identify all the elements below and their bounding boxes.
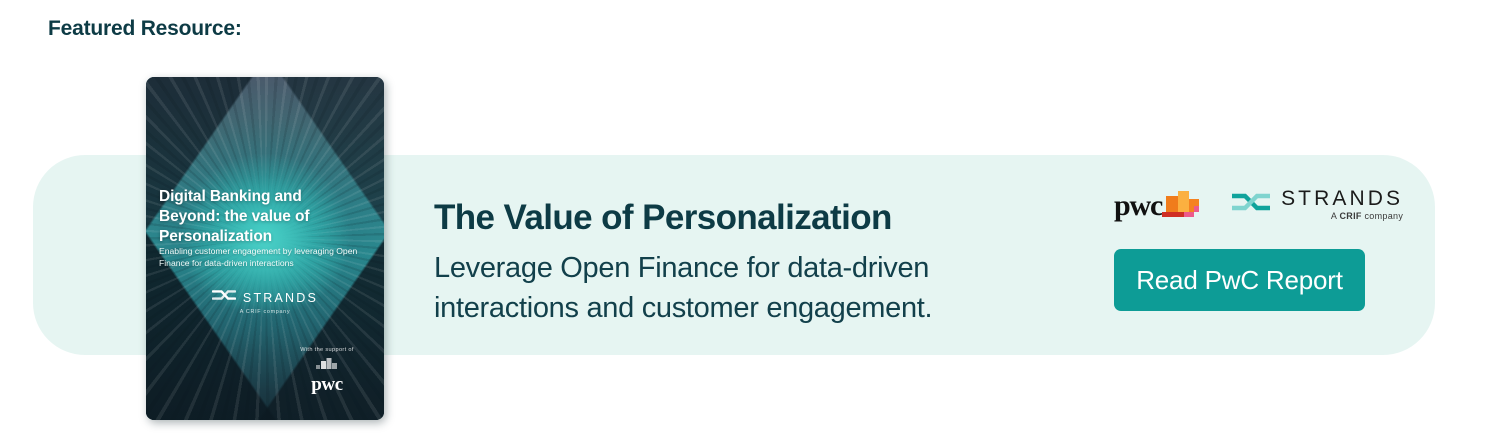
read-pwc-report-button[interactable]: Read PwC Report (1114, 249, 1365, 311)
cover-support-label: With the support of (284, 347, 370, 353)
strands-tagline: A CRIF company (1331, 211, 1403, 221)
strands-tagline-suffix: company (1365, 211, 1404, 221)
cover-title: Digital Banking and Beyond: the value of… (159, 187, 349, 246)
strands-logo: STRANDS A CRIF company (1230, 188, 1403, 221)
pwc-blocks-icon (1158, 189, 1204, 219)
cover-strands-tagline: A CRIF company (146, 309, 384, 315)
promo-subtitle: Leverage Open Finance for data-driven in… (434, 248, 1074, 328)
page-title: Featured Resource: (48, 17, 242, 41)
strands-wordmark: STRANDS (1281, 188, 1403, 210)
cover-support-block: With the support of pwc (284, 347, 370, 394)
strands-x-icon (1230, 191, 1272, 218)
crif-wordmark: CRIF (1339, 211, 1361, 221)
cover-subtitle: Enabling customer engagement by leveragi… (159, 245, 364, 270)
promo-title: The Value of Personalization (434, 198, 892, 238)
partner-logo-row: pwc STRANDS A CRIF company (1114, 188, 1403, 221)
strands-tagline-prefix: A (1331, 211, 1337, 221)
cover-strands-logo: STRANDS A CRIF company (146, 289, 384, 315)
pwc-logo-icon (284, 356, 370, 374)
strands-x-icon (212, 289, 236, 307)
pwc-logo: pwc (1114, 189, 1204, 220)
report-cover-thumbnail[interactable]: Digital Banking and Beyond: the value of… (146, 77, 384, 420)
cover-strands-wordmark: STRANDS (243, 291, 318, 305)
pwc-wordmark: pwc (1114, 192, 1162, 220)
cover-pwc-wordmark: pwc (284, 375, 370, 394)
